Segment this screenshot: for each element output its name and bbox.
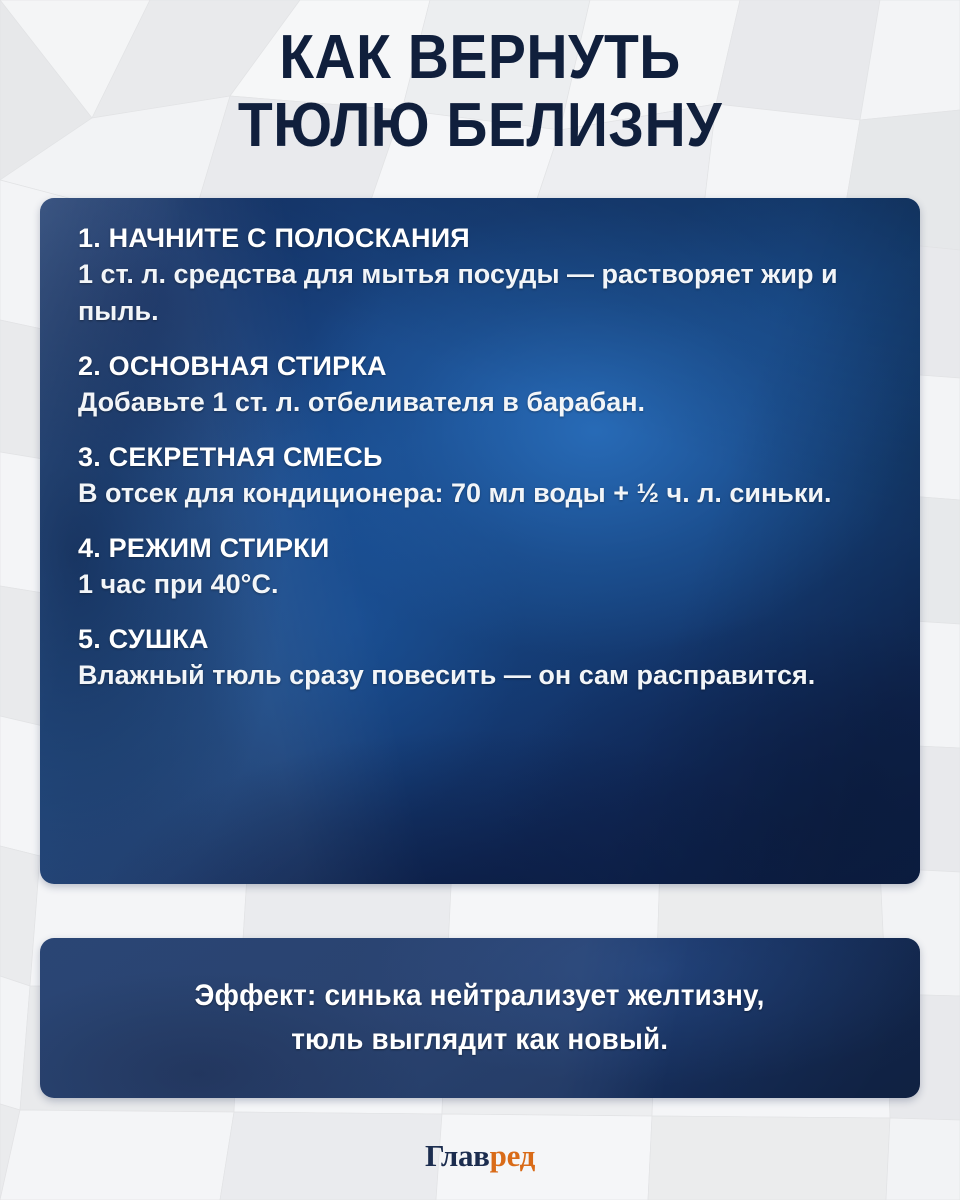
brand-logo: Главред — [0, 1138, 960, 1174]
step-text: 1 ст. л. средства для мытья посуды — рас… — [78, 256, 868, 330]
list-item: 3. СЕКРЕТНАЯ СМЕСЬ В отсек для кондицион… — [78, 439, 892, 512]
step-title: 2. ОСНОВНАЯ СТИРКА — [78, 348, 892, 384]
conclusion-line-2: тюль выглядит как новый. — [291, 1018, 668, 1062]
conclusion-card: Эффект: синька нейтрализует желтизну, тю… — [40, 938, 920, 1098]
conclusion-text: Эффект: синька нейтрализует желтизну, тю… — [40, 938, 920, 1098]
list-item: 4. РЕЖИМ СТИРКИ 1 час при 40°С. — [78, 530, 892, 603]
step-title: 5. СУШКА — [78, 621, 892, 657]
logo-text-orange: ред — [490, 1138, 535, 1173]
step-text: 1 час при 40°С. — [78, 566, 868, 603]
page-title: КАК ВЕРНУТЬ ТЮЛЮ БЕЛИЗНУ — [0, 24, 960, 160]
list-item: 1. НАЧНИТЕ С ПОЛОСКАНИЯ 1 ст. л. средств… — [78, 220, 892, 330]
step-title: 3. СЕКРЕТНАЯ СМЕСЬ — [78, 439, 892, 475]
logo-text-dark: Глав — [425, 1138, 490, 1173]
step-title: 4. РЕЖИМ СТИРКИ — [78, 530, 892, 566]
page-title-line-1: КАК ВЕРНУТЬ — [38, 24, 921, 92]
step-title: 1. НАЧНИТЕ С ПОЛОСКАНИЯ — [78, 220, 892, 256]
step-text: Добавьте 1 ст. л. отбеливателя в барабан… — [78, 384, 868, 421]
step-text: Влажный тюль сразу повесить — он сам рас… — [78, 657, 868, 694]
page-title-line-2: ТЮЛЮ БЕЛИЗНУ — [38, 92, 921, 160]
conclusion-line-1: Эффект: синька нейтрализует желтизну, — [195, 974, 765, 1018]
steps-card: 1. НАЧНИТЕ С ПОЛОСКАНИЯ 1 ст. л. средств… — [40, 198, 920, 884]
step-text: В отсек для кондиционера: 70 мл воды + ½… — [78, 475, 868, 512]
steps-list: 1. НАЧНИТЕ С ПОЛОСКАНИЯ 1 ст. л. средств… — [78, 220, 892, 694]
list-item: 5. СУШКА Влажный тюль сразу повесить — о… — [78, 621, 892, 694]
list-item: 2. ОСНОВНАЯ СТИРКА Добавьте 1 ст. л. отб… — [78, 348, 892, 421]
